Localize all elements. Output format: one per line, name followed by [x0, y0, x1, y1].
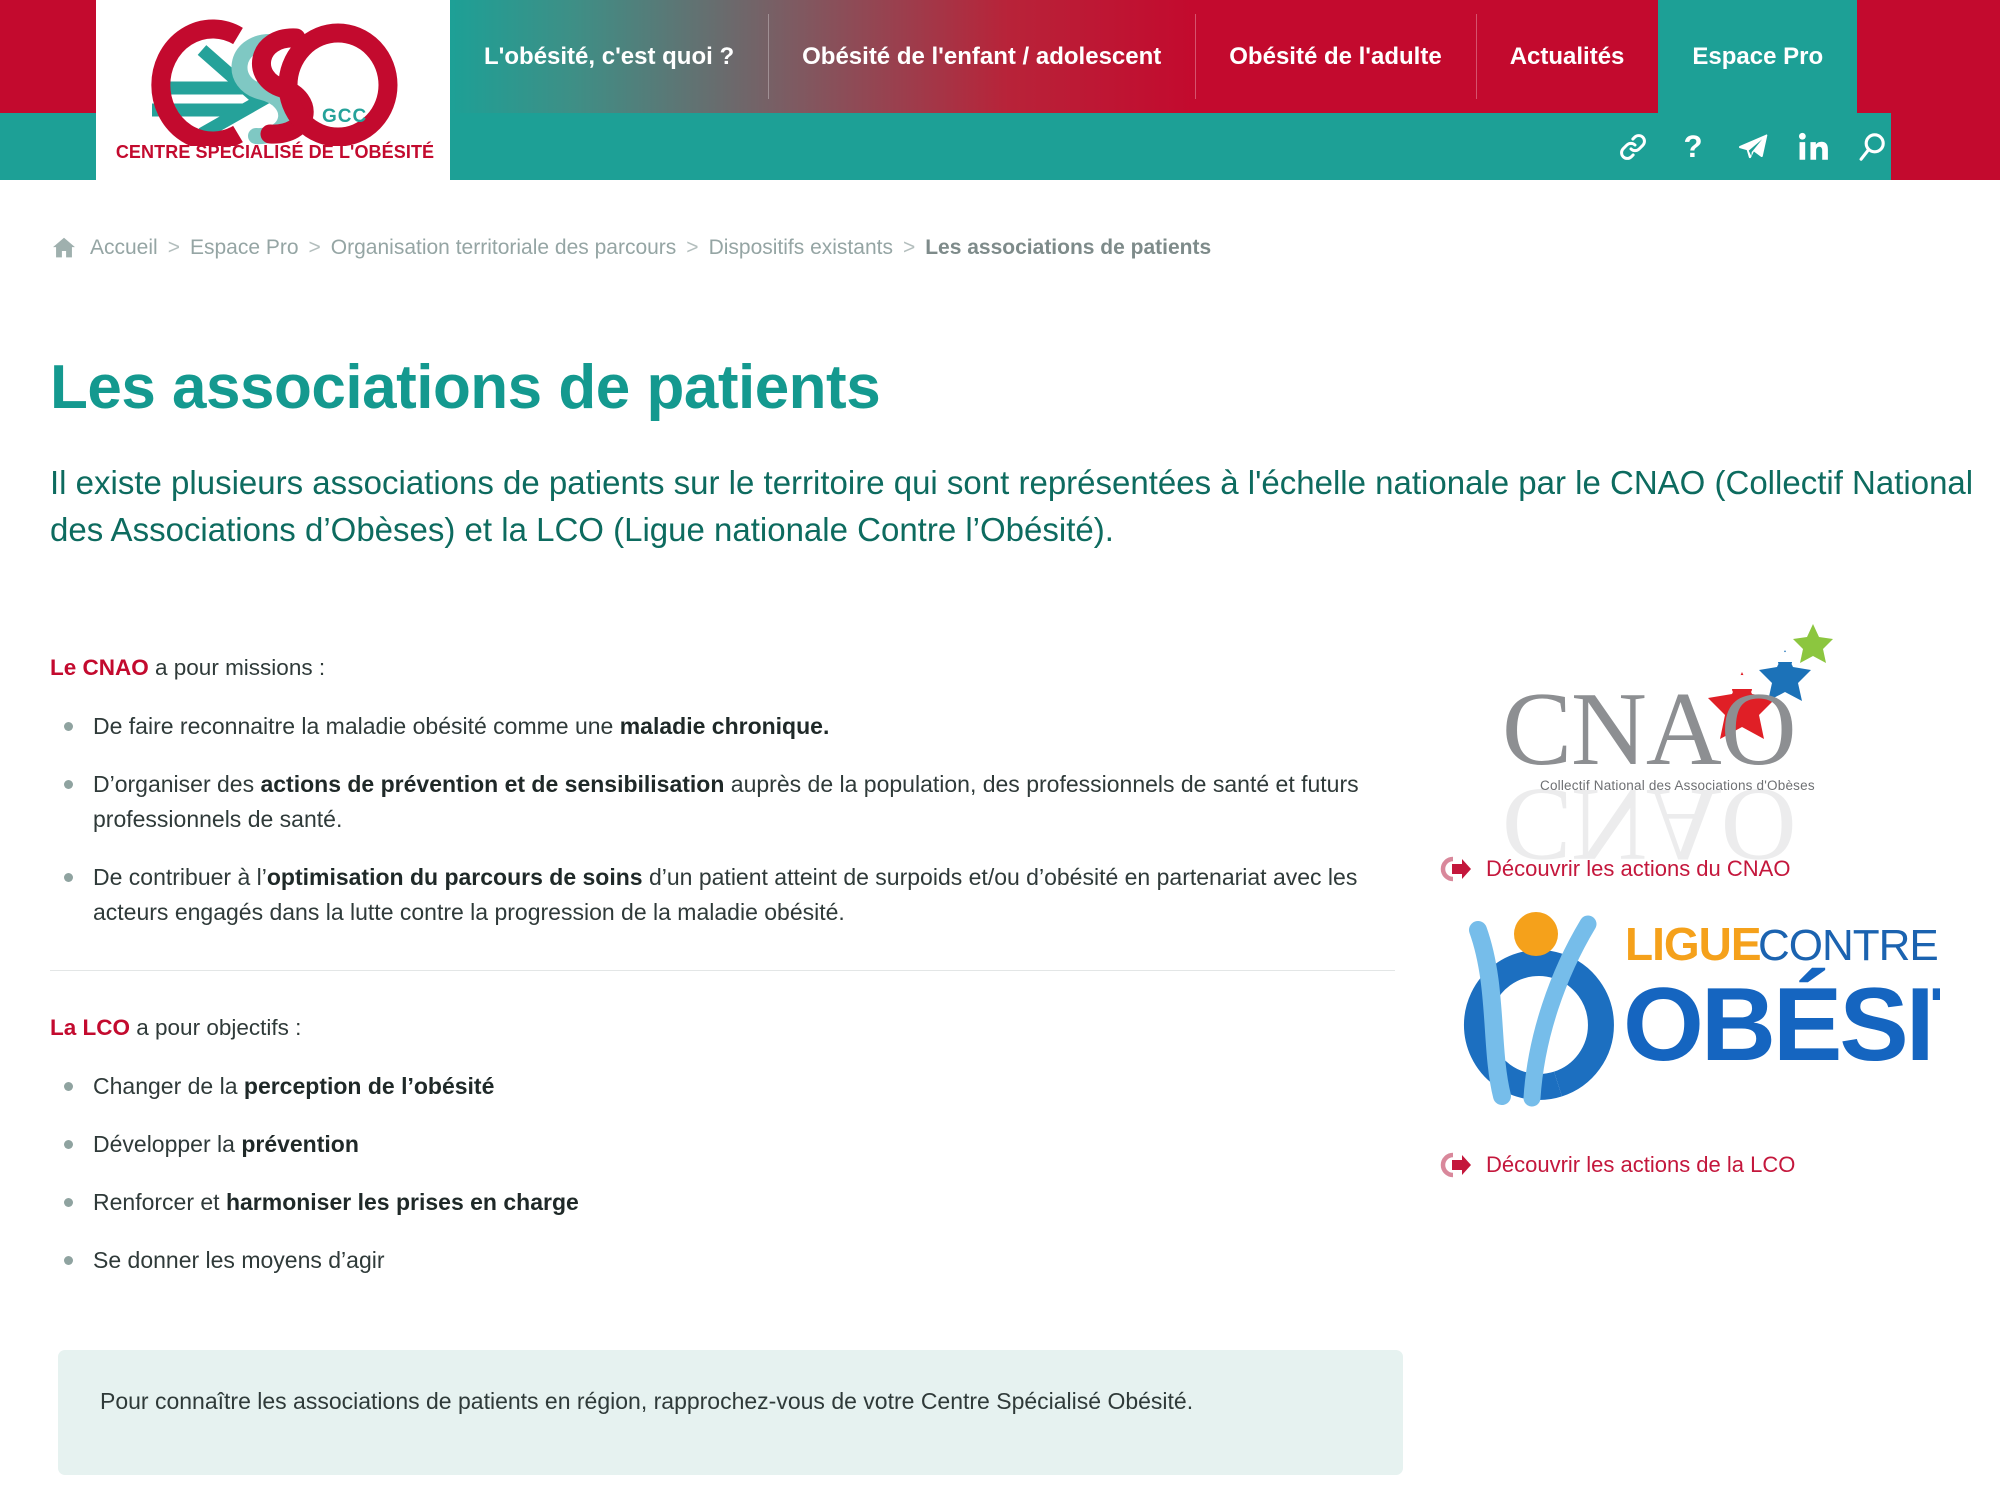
list-item: De faire reconnaitre la maladie obésité …: [50, 709, 1395, 744]
list-item: Changer de la perception de l’obésité: [50, 1069, 1395, 1104]
info-callout-text: Pour connaître les associations de patie…: [100, 1388, 1193, 1414]
lco-lead-rest: a pour objectifs :: [130, 1015, 301, 1040]
svg-text:LIGUE: LIGUE: [1625, 918, 1761, 970]
svg-text:CONTRE: CONTRE: [1758, 921, 1938, 970]
cnao-logo[interactable]: CNAO Collectif National des Associations…: [1440, 612, 1860, 862]
nav-item-2[interactable]: Obésité de l'adulte: [1195, 0, 1475, 113]
search-icon[interactable]: [1856, 130, 1890, 164]
header-topright-red-block: [1891, 113, 2000, 180]
list-item: De contribuer à l’optimisation du parcou…: [50, 860, 1395, 930]
breadcrumb-separator-2: >: [686, 236, 698, 260]
header-left-red-block: [0, 0, 96, 113]
site-header: GCC CENTRE SPÉCIALISÉ DE L'OBÉSITÉ L'obé…: [0, 0, 2000, 180]
breadcrumb-item-1[interactable]: Espace Pro: [190, 236, 299, 260]
main-navigation: L'obésité, c'est quoi ? Obésité de l'enf…: [450, 0, 1857, 113]
header-icon-group: ?: [1616, 113, 1890, 180]
breadcrumb: Accueil > Espace Pro > Organisation terr…: [50, 228, 1650, 268]
main-content: Le CNAO a pour missions : De faire recon…: [50, 655, 1395, 1301]
list-item: D’organiser des actions de prévention et…: [50, 767, 1395, 837]
list-item: Renforcer et harmoniser les prises en ch…: [50, 1185, 1395, 1220]
svg-text:CNAO: CNAO: [1502, 767, 1796, 862]
lco-logo[interactable]: LIGUE CONTRE OBÉSITÉ: [1440, 908, 1940, 1138]
breadcrumb-separator-0: >: [168, 236, 180, 260]
breadcrumb-item-0[interactable]: Accueil: [90, 236, 158, 260]
info-callout: Pour connaître les associations de patie…: [58, 1350, 1403, 1475]
cnao-bullet-list: De faire reconnaitre la maladie obésité …: [50, 709, 1395, 930]
list-item: Se donner les moyens d’agir: [50, 1243, 1395, 1278]
nav-item-3[interactable]: Actualités: [1476, 0, 1659, 113]
cnao-lead-rest: a pour missions :: [149, 655, 325, 680]
cnao-lead: Le CNAO a pour missions :: [50, 655, 1395, 681]
nav-item-0[interactable]: L'obésité, c'est quoi ?: [450, 0, 768, 113]
page-intro: Il existe plusieurs associations de pati…: [50, 460, 1980, 554]
list-item: Développer la prévention: [50, 1127, 1395, 1162]
lco-lead-strong: La LCO: [50, 1015, 130, 1040]
lco-actions-link[interactable]: Découvrir les actions de la LCO: [1440, 1152, 1960, 1178]
lco-bullet-list: Changer de la perception de l’obésité Dé…: [50, 1069, 1395, 1278]
breadcrumb-item-2[interactable]: Organisation territoriale des parcours: [331, 236, 677, 260]
nav-item-1[interactable]: Obésité de l'enfant / adolescent: [768, 0, 1195, 113]
cso-logo[interactable]: GCC CENTRE SPÉCIALISÉ DE L'OBÉSITÉ: [110, 6, 440, 178]
cso-logo-caption: CENTRE SPÉCIALISÉ DE L'OBÉSITÉ: [110, 142, 440, 163]
svg-text:?: ?: [1683, 130, 1702, 164]
sidebar: CNAO Collectif National des Associations…: [1440, 612, 1960, 1178]
cnao-star-green: [1793, 624, 1833, 663]
svg-text:GCC: GCC: [322, 106, 367, 127]
lco-actions-link-label: Découvrir les actions de la LCO: [1486, 1152, 1795, 1178]
section-divider: [50, 970, 1395, 971]
question-mark-icon[interactable]: ?: [1676, 130, 1710, 164]
cso-logo-mark: GCC: [110, 6, 440, 146]
svg-text:OBÉSITÉ: OBÉSITÉ: [1623, 967, 1940, 1083]
lco-lead: La LCO a pour objectifs :: [50, 1015, 1395, 1041]
breadcrumb-separator-3: >: [903, 236, 915, 260]
breadcrumb-separator-1: >: [309, 236, 321, 260]
breadcrumb-item-4-current: Les associations de patients: [925, 236, 1211, 260]
cnao-lead-strong: Le CNAO: [50, 655, 149, 680]
breadcrumb-item-3[interactable]: Dispositifs existants: [709, 236, 893, 260]
home-icon[interactable]: [50, 234, 78, 262]
paper-plane-icon[interactable]: [1736, 130, 1770, 164]
linkedin-icon[interactable]: [1796, 130, 1830, 164]
arrow-circle-right-icon: [1440, 1152, 1472, 1178]
link-icon[interactable]: [1616, 130, 1650, 164]
nav-item-4-espace-pro[interactable]: Espace Pro: [1658, 0, 1857, 113]
page-title: Les associations de patients: [50, 352, 1450, 423]
